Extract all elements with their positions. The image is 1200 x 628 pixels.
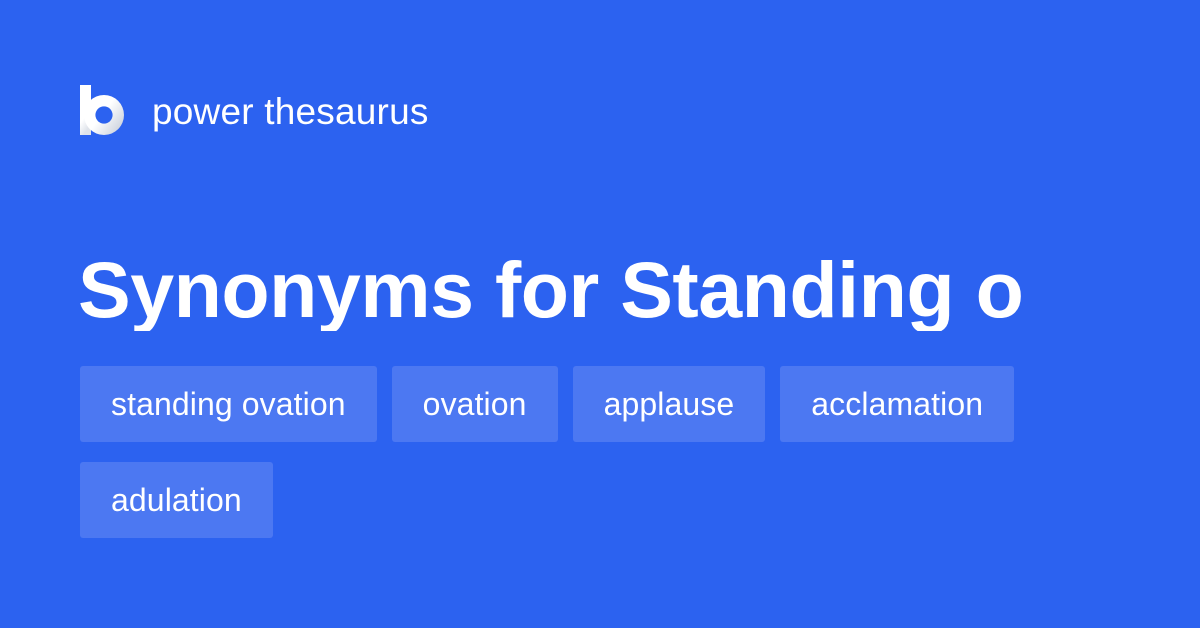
page-title: Synonyms for Standing o [78, 249, 1138, 331]
synonym-chip[interactable]: adulation [80, 462, 273, 538]
power-thesaurus-b-logo-icon [80, 85, 124, 135]
synonym-chip[interactable]: applause [573, 366, 766, 442]
brand-header[interactable]: power thesaurus [80, 82, 429, 138]
synonym-chip[interactable]: acclamation [780, 366, 1014, 442]
synonyms-share-card: power thesaurus Synonyms for Standing o … [0, 0, 1200, 628]
synonym-chip[interactable]: ovation [392, 366, 558, 442]
synonym-chip-list: standing ovation ovation applause acclam… [80, 366, 1120, 538]
brand-name: power thesaurus [152, 93, 429, 130]
synonym-chip[interactable]: standing ovation [80, 366, 377, 442]
